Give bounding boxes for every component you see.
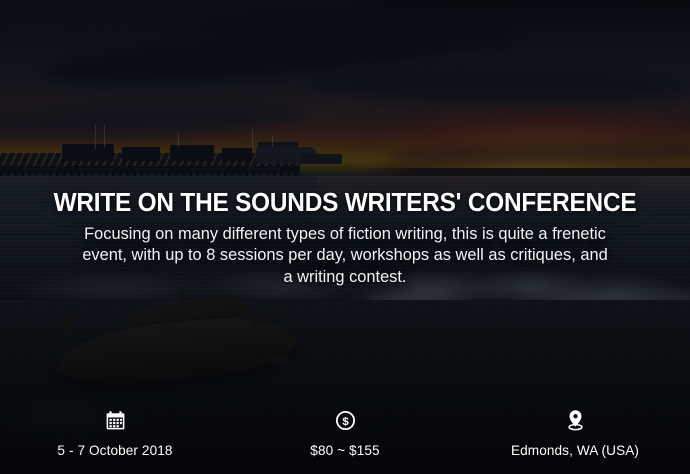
meta-item-price: $ $80 ~ $155 — [230, 408, 460, 458]
event-price-label: $80 ~ $155 — [310, 443, 379, 458]
card-content: WRITE ON THE SOUNDS WRITERS' CONFERENCE … — [0, 0, 690, 474]
map-pin-icon — [563, 408, 587, 432]
event-date-label: 5 - 7 October 2018 — [57, 443, 172, 458]
event-hero-card: WRITE ON THE SOUNDS WRITERS' CONFERENCE … — [0, 0, 690, 474]
meta-item-date: 5 - 7 October 2018 — [0, 408, 230, 458]
event-meta-row: 5 - 7 October 2018 $ $80 ~ $155 — [0, 408, 690, 458]
calendar-icon — [103, 408, 127, 432]
event-description: Focusing on many different types of fict… — [81, 224, 609, 288]
event-location-label: Edmonds, WA (USA) — [511, 443, 639, 458]
event-title: WRITE ON THE SOUNDS WRITERS' CONFERENCE — [48, 190, 642, 217]
svg-text:$: $ — [342, 416, 349, 428]
headline-block: WRITE ON THE SOUNDS WRITERS' CONFERENCE … — [0, 190, 690, 288]
meta-item-location: Edmonds, WA (USA) — [460, 408, 690, 458]
dollar-circle-icon: $ — [333, 408, 357, 432]
